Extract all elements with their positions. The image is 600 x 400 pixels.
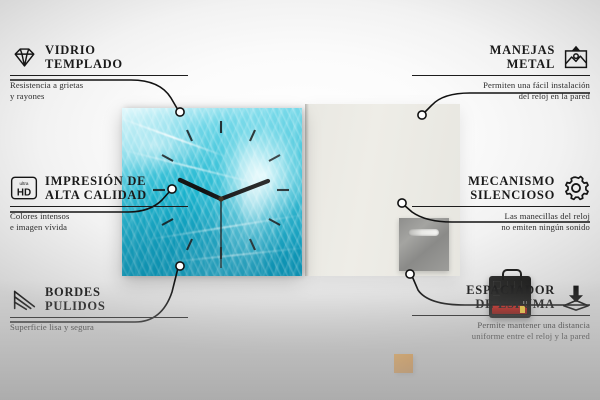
feature-vidrio-templado: VIDRIO TEMPLADO Resistencia a grietas y … xyxy=(10,42,188,103)
picture-frame-hanger-icon xyxy=(562,43,590,71)
feature-title: VIDRIO TEMPLADO xyxy=(45,43,123,71)
feature-title: ESPACIADOR DE ESPUMA xyxy=(466,283,555,311)
feature-title: IMPRESIÓN DE ALTA CALIDAD xyxy=(45,174,147,202)
polished-edges-icon xyxy=(10,285,38,313)
feature-divider xyxy=(10,206,188,207)
feature-divider xyxy=(412,75,590,76)
feature-divider xyxy=(10,317,188,318)
feature-mecanismo-silencioso: MECANISMO SILENCIOSO Las manecillas del … xyxy=(412,173,590,234)
feature-impresion-alta-calidad: ultra HD IMPRESIÓN DE ALTA CALIDAD Color… xyxy=(10,173,188,234)
foam-spacer-icon xyxy=(562,283,590,311)
feature-manejas-metal: MANEJAS METAL Permiten una fácil instala… xyxy=(412,42,590,103)
feature-divider xyxy=(412,206,590,207)
feature-subtitle: Permite mantener una distancia uniforme … xyxy=(412,320,590,343)
feature-divider xyxy=(10,75,188,76)
feature-subtitle: Las manecillas del reloj no emiten ningú… xyxy=(412,211,590,234)
feature-header: VIDRIO TEMPLADO xyxy=(10,42,188,72)
foam-spacer-part xyxy=(394,354,413,373)
feature-title: MANEJAS METAL xyxy=(490,43,555,71)
feature-subtitle: Permiten una fácil instalación del reloj… xyxy=(412,80,590,103)
feature-bordes-pulidos: BORDES PULIDOS Superficie lisa y segura xyxy=(10,284,188,333)
feature-header: ESPACIADOR DE ESPUMA xyxy=(412,282,590,312)
diamond-icon xyxy=(10,43,38,71)
feature-title: BORDES PULIDOS xyxy=(45,285,105,313)
feature-header: MECANISMO SILENCIOSO xyxy=(412,173,590,203)
svg-text:HD: HD xyxy=(17,187,31,198)
feature-header: BORDES PULIDOS xyxy=(10,284,188,314)
feature-divider xyxy=(412,315,590,316)
feature-subtitle: Colores intensos e imagen vívida xyxy=(10,211,188,234)
svg-text:ultra: ultra xyxy=(20,181,29,186)
clock-minute-hand xyxy=(221,181,268,199)
ultra-hd-icon: ultra HD xyxy=(10,174,38,202)
clock-center-pin xyxy=(218,196,223,201)
gear-icon xyxy=(562,174,590,202)
feature-header: MANEJAS METAL xyxy=(412,42,590,72)
infographic-canvas: VIDRIO TEMPLADO Resistencia a grietas y … xyxy=(0,0,600,400)
feature-header: ultra HD IMPRESIÓN DE ALTA CALIDAD xyxy=(10,173,188,203)
feature-subtitle: Resistencia a grietas y rayones xyxy=(10,80,188,103)
feature-title: MECANISMO SILENCIOSO xyxy=(468,174,555,202)
feature-espaciador-de-espuma: ESPACIADOR DE ESPUMA Permite mantener un… xyxy=(412,282,590,343)
mechanism-hanging-loop xyxy=(502,269,522,280)
feature-subtitle: Superficie lisa y segura xyxy=(10,322,188,333)
